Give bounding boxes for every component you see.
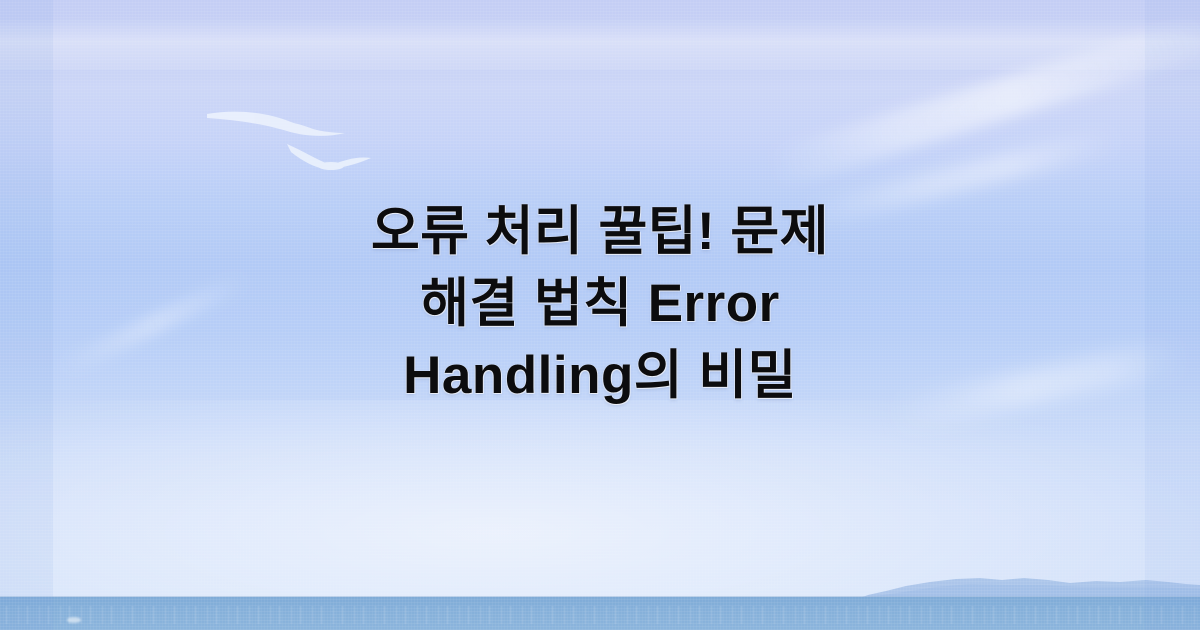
seagull-icon-upper: [207, 112, 345, 136]
seagull-body-lower: [318, 162, 344, 170]
seagull-body-upper: [283, 122, 317, 131]
sky-haze-band: [0, 18, 1200, 70]
sea-surface-glints: [0, 606, 1200, 624]
sea-foam-speck: [67, 617, 81, 623]
social-card-image: 오류 처리 꿀팁! 문제 해결 법칙 Error Handling의 비밀: [0, 0, 1200, 630]
left-edge-band: [0, 0, 53, 630]
right-edge-band: [1145, 0, 1200, 630]
seagulls-group: [195, 100, 380, 180]
